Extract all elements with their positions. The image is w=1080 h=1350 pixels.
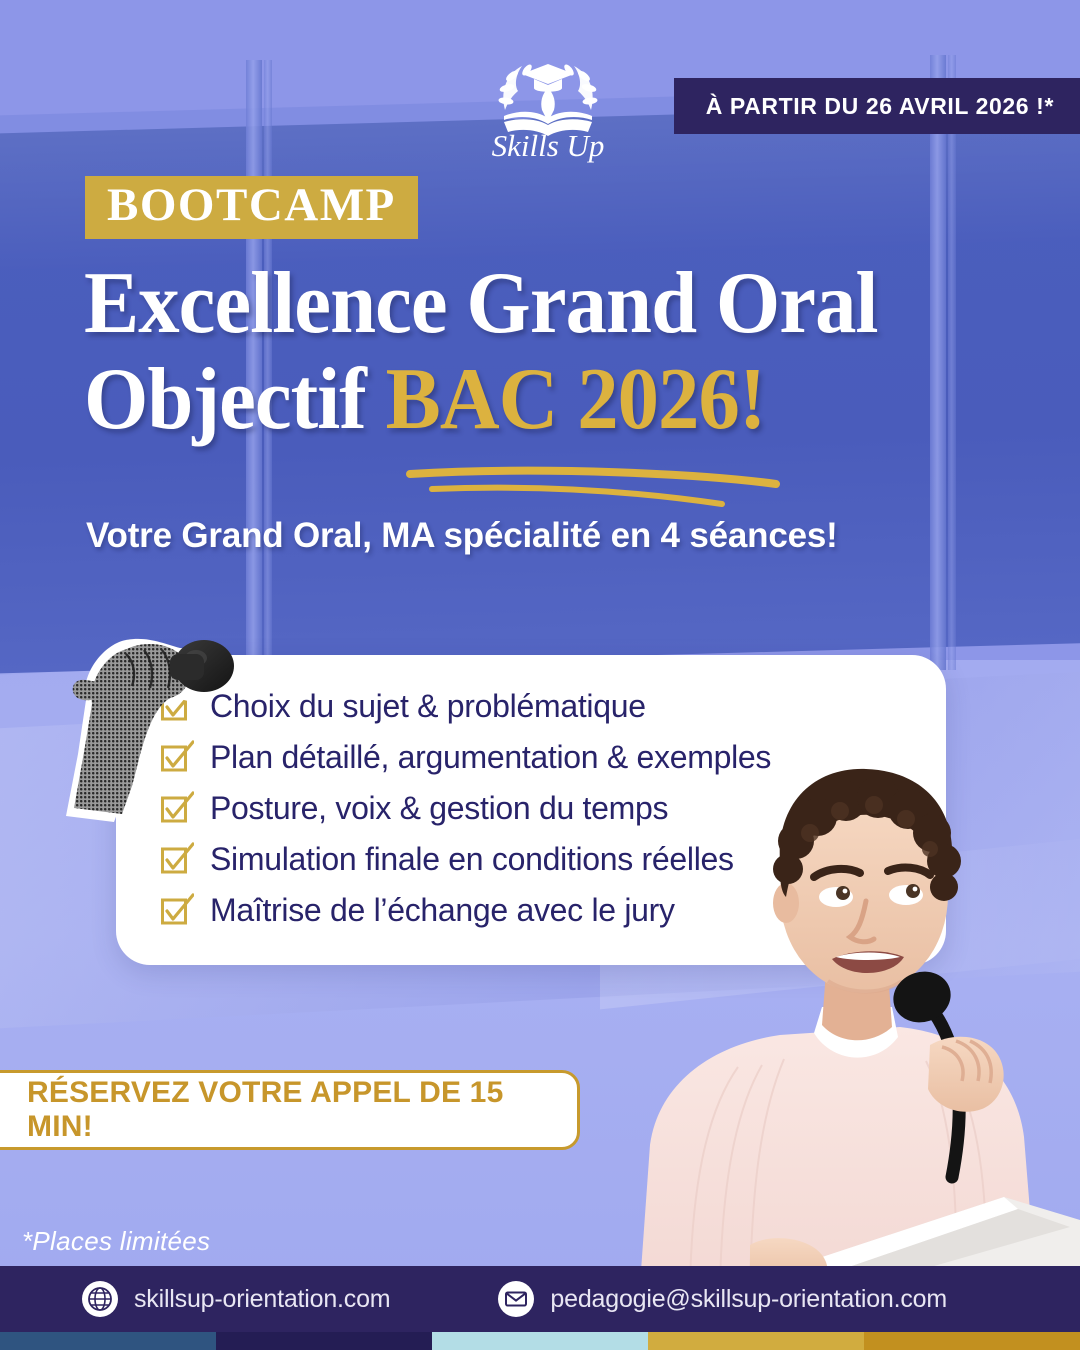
skills-up-logo: Skills Up [478, 52, 618, 164]
hand-holding-microphone-image [52, 604, 262, 834]
logo-wordmark: Skills Up [492, 128, 605, 163]
headline-objectif: Objectif [84, 351, 386, 448]
list-item-label: Choix du sujet & problématique [210, 688, 646, 725]
email-contact[interactable]: pedagogie@skillsup-orientation.com [498, 1281, 947, 1317]
date-badge: À PARTIR DU 26 AVRIL 2026 !* [674, 78, 1080, 134]
limited-places-note: *Places limitées [22, 1226, 210, 1257]
headline-line-1: Excellence Grand Oral [84, 262, 986, 346]
color-strip-segment [864, 1332, 1080, 1350]
date-badge-text: À PARTIR DU 26 AVRIL 2026 !* [706, 93, 1054, 120]
cta-button[interactable]: RÉSERVEZ VOTRE APPEL DE 15 MIN! [0, 1070, 580, 1150]
subtitle: Votre Grand Oral, MA spécialité en 4 séa… [86, 516, 1046, 556]
color-strip-segment [0, 1332, 216, 1350]
color-strip-segment [216, 1332, 432, 1350]
color-strip-segment [648, 1332, 864, 1350]
bootcamp-badge-label: BOOTCAMP [107, 179, 396, 231]
color-strip-segment [432, 1332, 648, 1350]
color-strip [0, 1332, 1080, 1350]
bootcamp-badge: BOOTCAMP [85, 176, 418, 239]
gold-underline-swoosh [404, 452, 824, 512]
cta-button-label: RÉSERVEZ VOTRE APPEL DE 15 MIN! [27, 1076, 577, 1144]
student-photo [600, 745, 1080, 1285]
list-item: Choix du sujet & problématique [160, 682, 920, 730]
globe-icon [82, 1281, 118, 1317]
website-text: skillsup-orientation.com [134, 1285, 390, 1314]
website-contact[interactable]: skillsup-orientation.com [82, 1281, 390, 1317]
poster: Skills Up À PARTIR DU 26 AVRIL 2026 !* B… [0, 0, 1080, 1350]
checkbox-checked-icon [160, 842, 194, 876]
email-text: pedagogie@skillsup-orientation.com [550, 1285, 947, 1314]
envelope-icon [498, 1281, 534, 1317]
footer-bar: skillsup-orientation.com pedagogie@skill… [0, 1266, 1080, 1332]
headline: Excellence Grand Oral Objectif BAC 2026! [84, 262, 1044, 443]
headline-bac-2026: BAC 2026! [386, 351, 766, 448]
checkbox-checked-icon [160, 893, 194, 927]
headline-line-2: Objectif BAC 2026! [84, 358, 986, 442]
